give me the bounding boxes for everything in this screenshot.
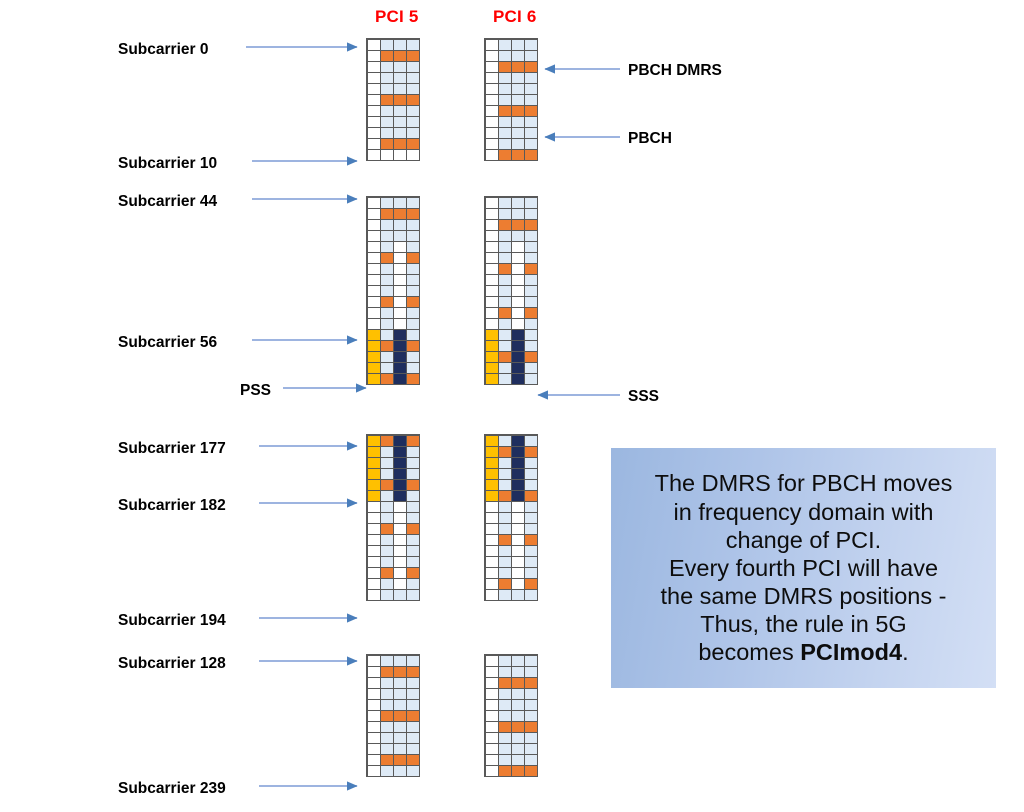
grid-row xyxy=(367,83,419,94)
resource-element-orange xyxy=(498,149,512,161)
resource-element-yellow xyxy=(485,373,499,385)
resource-element-empty xyxy=(380,149,394,161)
grid-row xyxy=(485,765,537,776)
grid-row xyxy=(367,512,419,523)
resource-element-blue xyxy=(380,765,394,777)
grid-row xyxy=(485,285,537,296)
grid-row xyxy=(485,83,537,94)
grid-row xyxy=(485,362,537,373)
resource-element-empty xyxy=(485,589,499,601)
grid-row xyxy=(485,677,537,688)
label-subcarrier-0: Subcarrier 0 xyxy=(118,41,208,59)
grid-row xyxy=(367,523,419,534)
resource-element-empty xyxy=(485,765,499,777)
grid-row xyxy=(485,72,537,83)
grid-row xyxy=(485,340,537,351)
resource-element-orange xyxy=(511,149,525,161)
grid-row xyxy=(367,127,419,138)
resource-element-orange xyxy=(511,765,525,777)
grid-row xyxy=(485,501,537,512)
grid-row xyxy=(367,116,419,127)
label-pss: PSS xyxy=(240,382,271,400)
grid-row xyxy=(485,208,537,219)
grid-row xyxy=(367,285,419,296)
grid-row xyxy=(485,127,537,138)
grid-row xyxy=(485,512,537,523)
grid-row xyxy=(485,490,537,501)
grid-row xyxy=(367,545,419,556)
grid-row xyxy=(367,688,419,699)
grid-row xyxy=(485,373,537,384)
resource-element-empty xyxy=(367,149,381,161)
grid-row xyxy=(367,318,419,329)
grid-row xyxy=(367,446,419,457)
callout-line-7-prefix: becomes xyxy=(698,639,800,665)
grid-row xyxy=(367,252,419,263)
grid-row xyxy=(485,296,537,307)
grid-row xyxy=(367,655,419,666)
grid-row xyxy=(367,241,419,252)
grid-row xyxy=(367,94,419,105)
grid-row xyxy=(485,655,537,666)
grid-row xyxy=(367,138,419,149)
callout-line-6: Thus, the rule in 5G xyxy=(700,611,906,637)
resource-element-blue xyxy=(380,589,394,601)
grid-row xyxy=(485,138,537,149)
grid-row xyxy=(367,578,419,589)
grid-row xyxy=(485,307,537,318)
grid-row xyxy=(367,219,419,230)
callout-line-5: the same DMRS positions - xyxy=(660,583,946,609)
resource-element-blue xyxy=(524,373,538,385)
grid-row xyxy=(367,765,419,776)
callout-line-7-suffix: . xyxy=(902,639,909,665)
resource-element-empty xyxy=(367,765,381,777)
pci-header-pci-6: PCI 6 xyxy=(493,7,537,27)
block-1-pci6 xyxy=(484,38,538,161)
grid-row xyxy=(485,197,537,208)
label-subcarrier-194: Subcarrier 194 xyxy=(118,612,226,630)
resource-element-orange xyxy=(498,765,512,777)
grid-row xyxy=(485,666,537,677)
grid-row xyxy=(485,556,537,567)
grid-row xyxy=(485,230,537,241)
resource-element-navy xyxy=(511,373,525,385)
grid-row xyxy=(367,197,419,208)
block-3-pci5 xyxy=(366,434,420,601)
grid-row xyxy=(485,274,537,285)
resource-element-blue xyxy=(524,589,538,601)
grid-row xyxy=(367,567,419,578)
label-subcarrier-182: Subcarrier 182 xyxy=(118,497,226,515)
grid-row xyxy=(485,351,537,362)
label-pbch-dmrs: PBCH DMRS xyxy=(628,62,722,80)
grid-row xyxy=(367,208,419,219)
callout-line-1: The DMRS for PBCH moves xyxy=(655,470,953,496)
label-subcarrier-44: Subcarrier 44 xyxy=(118,193,217,211)
explanation-callout: The DMRS for PBCH moves in frequency dom… xyxy=(611,448,996,688)
grid-row xyxy=(485,149,537,160)
callout-line-4: Every fourth PCI will have xyxy=(669,555,938,581)
grid-row xyxy=(485,263,537,274)
grid-row xyxy=(485,39,537,50)
grid-row xyxy=(367,274,419,285)
grid-row xyxy=(485,534,537,545)
grid-row xyxy=(367,457,419,468)
label-subcarrier-128: Subcarrier 128 xyxy=(118,655,226,673)
resource-element-orange xyxy=(380,373,394,385)
grid-row xyxy=(485,435,537,446)
grid-row xyxy=(485,578,537,589)
grid-row xyxy=(485,523,537,534)
label-subcarrier-177: Subcarrier 177 xyxy=(118,440,226,458)
grid-row xyxy=(485,545,537,556)
grid-row xyxy=(485,743,537,754)
resource-element-yellow xyxy=(367,373,381,385)
grid-row xyxy=(367,373,419,384)
grid-row xyxy=(485,241,537,252)
callout-line-2: in frequency domain with xyxy=(674,499,934,525)
pci-header-pci-5: PCI 5 xyxy=(375,7,419,27)
label-subcarrier-10: Subcarrier 10 xyxy=(118,155,217,173)
grid-row xyxy=(485,446,537,457)
grid-row xyxy=(367,435,419,446)
grid-row xyxy=(485,721,537,732)
grid-row xyxy=(367,677,419,688)
grid-row xyxy=(367,699,419,710)
grid-row xyxy=(367,710,419,721)
resource-element-blue xyxy=(393,765,407,777)
grid-row xyxy=(367,329,419,340)
grid-row xyxy=(485,710,537,721)
grid-row xyxy=(367,732,419,743)
grid-row xyxy=(367,468,419,479)
grid-row xyxy=(485,589,537,600)
block-1-pci5 xyxy=(366,38,420,161)
grid-row xyxy=(485,252,537,263)
resource-element-blue xyxy=(511,589,525,601)
block-2-pci5 xyxy=(366,196,420,385)
grid-row xyxy=(367,351,419,362)
block-3-pci6 xyxy=(484,434,538,601)
resource-element-blue xyxy=(393,589,407,601)
resource-element-navy xyxy=(393,373,407,385)
grid-row xyxy=(367,230,419,241)
grid-row xyxy=(485,318,537,329)
grid-row xyxy=(485,219,537,230)
resource-element-blue xyxy=(498,589,512,601)
grid-row xyxy=(367,50,419,61)
grid-row xyxy=(367,263,419,274)
grid-row xyxy=(367,501,419,512)
resource-element-empty xyxy=(367,589,381,601)
grid-row xyxy=(485,567,537,578)
grid-row xyxy=(367,39,419,50)
grid-row xyxy=(367,534,419,545)
grid-row xyxy=(485,50,537,61)
callout-line-3: change of PCI. xyxy=(726,527,881,553)
grid-row xyxy=(367,307,419,318)
resource-element-orange xyxy=(524,765,538,777)
grid-row xyxy=(485,732,537,743)
grid-row xyxy=(367,743,419,754)
resource-element-empty xyxy=(393,149,407,161)
resource-element-blue xyxy=(498,373,512,385)
block-4-pci6 xyxy=(484,654,538,777)
grid-row xyxy=(367,721,419,732)
grid-row xyxy=(485,457,537,468)
grid-row xyxy=(485,754,537,765)
resource-element-empty xyxy=(406,149,420,161)
block-4-pci5 xyxy=(366,654,420,777)
grid-row xyxy=(367,754,419,765)
grid-row xyxy=(485,688,537,699)
label-subcarrier-239: Subcarrier 239 xyxy=(118,780,226,798)
resource-element-empty xyxy=(485,149,499,161)
label-sss: SSS xyxy=(628,388,659,406)
grid-row xyxy=(367,589,419,600)
grid-row xyxy=(485,699,537,710)
label-pbch: PBCH xyxy=(628,130,672,148)
resource-element-blue xyxy=(406,765,420,777)
callout-rule-emphasis: PCImod4 xyxy=(800,639,902,665)
block-2-pci6 xyxy=(484,196,538,385)
grid-row xyxy=(367,340,419,351)
grid-row xyxy=(367,105,419,116)
grid-row xyxy=(485,94,537,105)
grid-row xyxy=(367,479,419,490)
grid-row xyxy=(485,61,537,72)
grid-row xyxy=(485,479,537,490)
resource-element-orange xyxy=(406,373,420,385)
grid-row xyxy=(367,490,419,501)
grid-row xyxy=(367,61,419,72)
grid-row xyxy=(485,116,537,127)
grid-row xyxy=(367,362,419,373)
resource-element-blue xyxy=(406,589,420,601)
grid-row xyxy=(367,556,419,567)
grid-row xyxy=(485,105,537,116)
grid-row xyxy=(485,468,537,479)
resource-element-orange xyxy=(524,149,538,161)
grid-row xyxy=(367,72,419,83)
grid-row xyxy=(367,149,419,160)
label-subcarrier-56: Subcarrier 56 xyxy=(118,334,217,352)
grid-row xyxy=(367,296,419,307)
diagram-canvas: PCI 5PCI 6 Subcarrier 0Subcarrier 10Subc… xyxy=(0,0,1024,812)
grid-row xyxy=(485,329,537,340)
grid-row xyxy=(367,666,419,677)
